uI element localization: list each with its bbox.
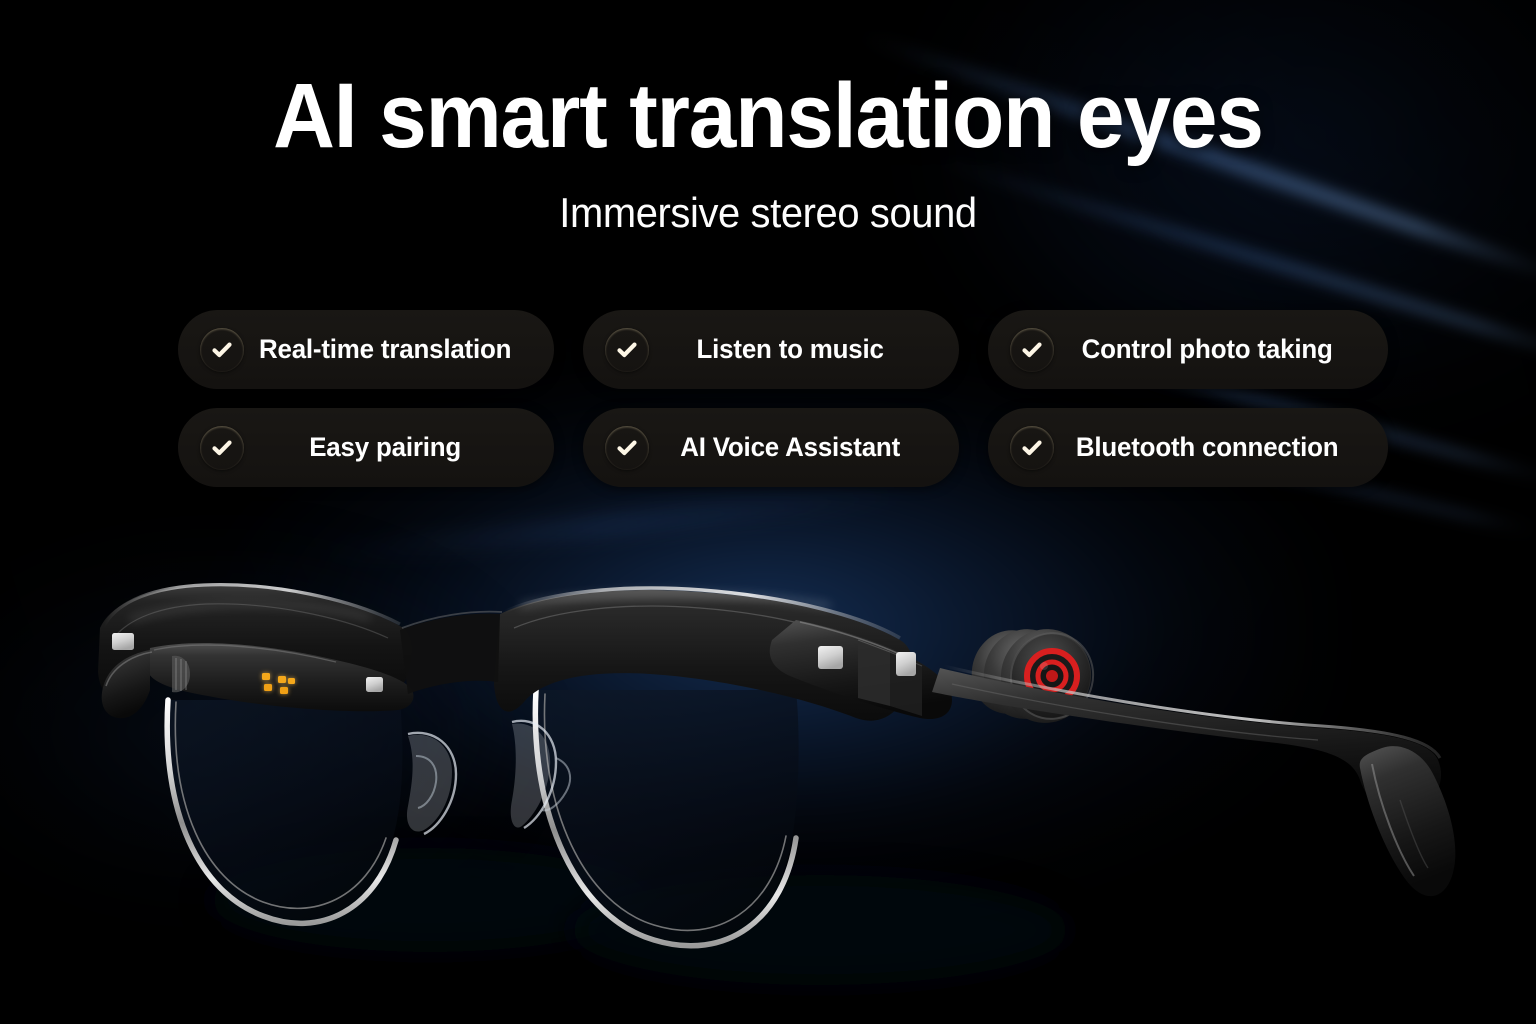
check-circle-icon [1010,328,1054,372]
check-circle-icon [200,328,244,372]
feature-label: Listen to music [655,334,931,365]
feature-label: AI Voice Assistant [655,432,931,463]
feature-label: Easy pairing [250,432,526,463]
product-hero-banner: AI smart translation eyes Immersive ster… [0,0,1536,1024]
check-circle-icon [605,328,649,372]
page-title: AI smart translation eyes [54,70,1482,164]
page-subtitle: Immersive stereo sound [38,190,1497,236]
feature-label: Control photo taking [1060,334,1360,365]
check-circle-icon [200,426,244,470]
feature-label: Real-time translation [250,334,526,365]
feature-label: Bluetooth connection [1060,432,1360,463]
feature-pill-bluetooth-connection[interactable]: Bluetooth connection [988,408,1388,487]
feature-pill-control-photo-taking[interactable]: Control photo taking [988,310,1388,389]
feature-pill-ai-voice-assistant[interactable]: AI Voice Assistant [583,408,959,487]
feature-pill-easy-pairing[interactable]: Easy pairing [178,408,554,487]
hero-text-block: AI smart translation eyes Immersive ster… [0,70,1536,236]
feature-pill-real-time-translation[interactable]: Real-time translation [178,310,554,389]
check-circle-icon [1010,426,1054,470]
feature-pill-listen-to-music[interactable]: Listen to music [583,310,959,389]
feature-list: Real-time translation Listen to music Co… [178,310,1360,487]
check-circle-icon [605,426,649,470]
